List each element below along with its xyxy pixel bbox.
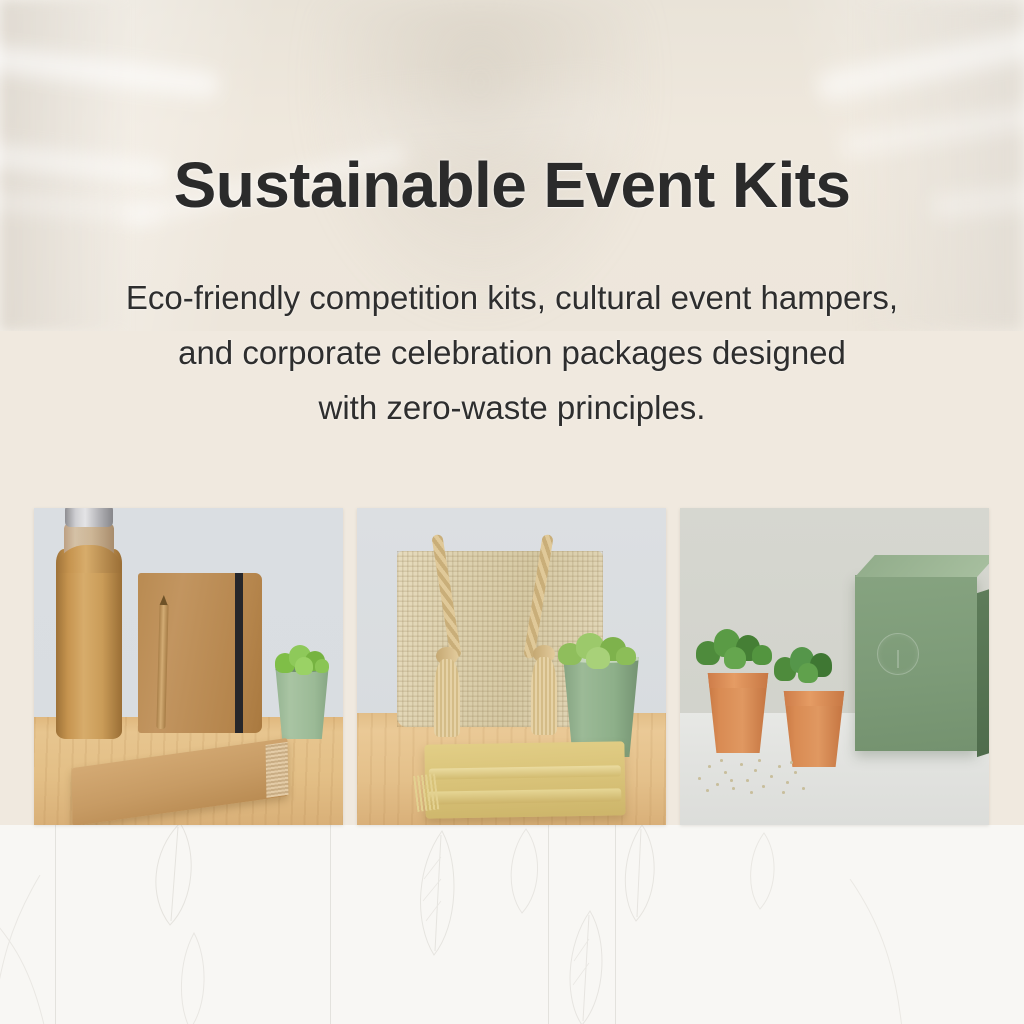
page-edge — [266, 742, 289, 798]
succulent-icon — [694, 623, 780, 679]
seam-line — [548, 825, 549, 1024]
subtitle-line-1: Eco-friendly competition kits, cultural … — [32, 270, 992, 325]
cloth-fringe — [413, 774, 439, 812]
steel-cap-icon — [65, 508, 113, 527]
leaf-watermark-icon — [556, 905, 616, 1024]
leaf-watermark-icon — [140, 825, 210, 937]
succulent-icon — [770, 641, 856, 697]
leaf-watermark-icon — [170, 929, 216, 1024]
succulent-icon — [273, 641, 331, 677]
cloth-fold — [429, 765, 621, 779]
bamboo-bottle — [56, 549, 122, 739]
leaf-watermark-icon — [612, 825, 668, 931]
product-gallery — [34, 508, 990, 825]
embossed-tree-logo-icon — [877, 633, 919, 675]
gallery-image-jute-tote-hamper[interactable] — [357, 508, 666, 825]
gallery-image-bamboo-desk-kit[interactable] — [34, 508, 343, 825]
cloth-fold — [427, 788, 621, 804]
leaf-watermark-icon — [500, 825, 548, 921]
box-top-face — [855, 555, 989, 577]
box-side-face — [977, 581, 989, 757]
subtitle-line-3: with zero-waste principles. — [32, 380, 992, 435]
leaf-watermark-icon — [408, 827, 468, 967]
page-subtitle: Eco-friendly competition kits, cultural … — [32, 270, 992, 435]
green-gift-box — [855, 575, 977, 751]
bottle-shoulder — [56, 545, 122, 573]
gallery-image-plantable-gift-box[interactable] — [680, 508, 989, 825]
branch-watermark-icon — [830, 879, 950, 1024]
leaf-watermark-icon — [740, 829, 784, 917]
seam-line — [330, 825, 331, 1024]
tassel-icon — [434, 659, 460, 737]
branch-watermark-icon — [0, 875, 110, 1024]
scattered-seeds — [694, 757, 812, 797]
folded-cloth — [424, 741, 625, 818]
watermark-band — [0, 825, 1024, 1024]
subtitle-line-2: and corporate celebration packages desig… — [32, 325, 992, 380]
succulent-icon — [554, 627, 646, 677]
poster-canvas: Sustainable Event Kits Eco-friendly comp… — [0, 0, 1024, 1024]
elastic-band — [235, 573, 243, 733]
page-title: Sustainable Event Kits — [0, 148, 1024, 222]
